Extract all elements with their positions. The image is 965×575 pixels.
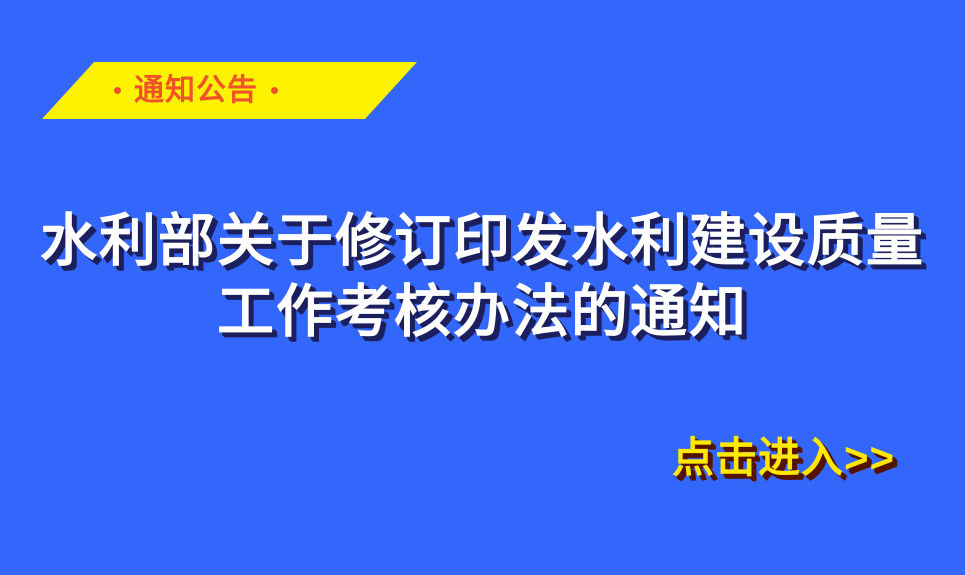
ribbon-label-text: 通知公告 <box>134 76 258 106</box>
dot-bullet-right-icon <box>271 87 278 94</box>
section-ribbon[interactable]: 通知公告 <box>42 62 417 119</box>
notice-promo-banner: 通知公告 水利部关于修订印发水利建设质量 工作考核办法的通知 点击进入>> <box>0 0 965 575</box>
headline: 水利部关于修订印发水利建设质量 工作考核办法的通知 <box>0 206 965 348</box>
enter-link[interactable]: 点击进入>> <box>672 435 895 481</box>
headline-line-1: 水利部关于修订印发水利建设质量 <box>0 206 965 277</box>
dot-bullet-left-icon <box>114 87 121 94</box>
headline-line-2: 工作考核办法的通知 <box>0 277 965 348</box>
ribbon-label-group: 通知公告 <box>42 62 417 119</box>
